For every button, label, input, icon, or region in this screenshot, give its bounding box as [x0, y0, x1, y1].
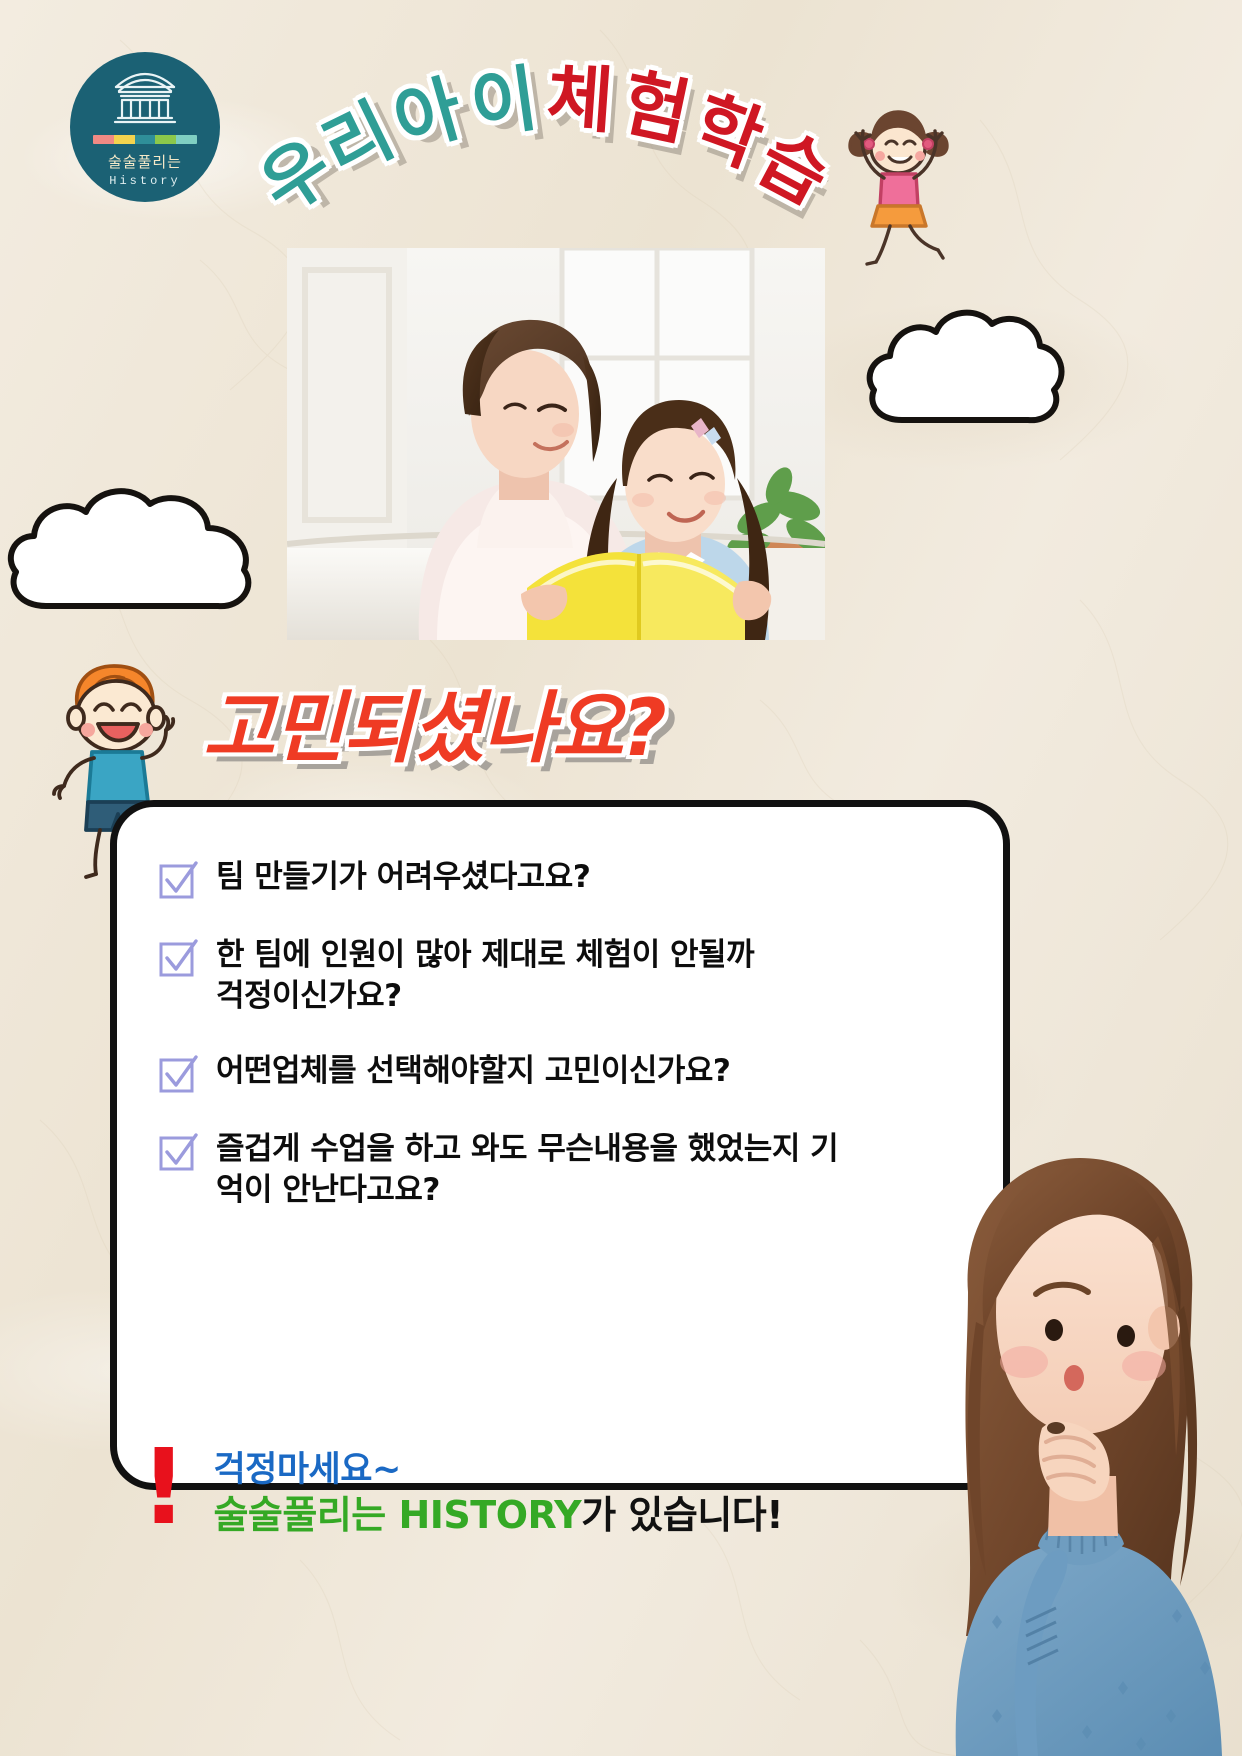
logo-color-bar	[93, 135, 197, 144]
checklist-item: 즐겁게 수업을 하고 와도 무슨내용을 했었는지 기 억이 안난다고요?	[158, 1129, 898, 1211]
slogan-line-2-tail: 가 있습니다!	[581, 1493, 783, 1537]
thinking-woman-illustration	[922, 1116, 1242, 1756]
checklist-item-label: 어떤업체를 선택해야할지 고민이신가요?	[216, 1051, 730, 1092]
title-char-4: 체	[545, 61, 616, 137]
logo-english-text: History	[109, 174, 180, 188]
page-title: 우리아이체험학습	[255, 62, 855, 242]
checkbox-checked-icon	[158, 939, 198, 979]
slogan-brand-text: 술술풀리는 HISTORY	[213, 1493, 581, 1537]
checkbox-checked-icon	[158, 861, 198, 901]
checkbox-checked-icon	[158, 1055, 198, 1095]
cheering-girl-doodle	[836, 100, 960, 270]
checkbox-checked-icon	[158, 1133, 198, 1173]
exclamation-mark-icon: !	[140, 1440, 187, 1536]
hanok-building-icon	[110, 70, 180, 131]
cloud-right	[862, 288, 1070, 448]
concerns-checklist: 팀 만들기가 어려우셨다고요?한 팀에 인원이 많아 제대로 체험이 안될까 걱…	[158, 857, 898, 1245]
slogan-line-1: 걱정마세요~	[213, 1448, 783, 1492]
title-char-3: 이	[466, 62, 542, 143]
poster-canvas: 술술풀리는 History 우리아이체험학습	[0, 0, 1242, 1756]
checklist-item-label: 팀 만들기가 어려우셨다고요?	[216, 857, 590, 898]
checklist-item-label: 한 팀에 인원이 많아 제대로 체험이 안될까 걱정이신가요?	[216, 935, 754, 1017]
title-char-2: 아	[386, 71, 470, 158]
cloud-left	[2, 470, 268, 630]
logo-korean-text: 술술풀리는	[108, 151, 182, 172]
mother-and-daughter-reading-photo	[287, 248, 825, 640]
checklist-item: 팀 만들기가 어려우셨다고요?	[158, 857, 898, 901]
checklist-item: 어떤업체를 선택해야할지 고민이신가요?	[158, 1051, 898, 1095]
reassurance-slogan: ! 걱정마세요~ 술술풀리는 HISTORY가 있습니다!	[140, 1448, 783, 1540]
section-headline: 고민되셨나요?	[203, 690, 665, 768]
title-char-5: 험	[616, 66, 696, 150]
checklist-item-label: 즐겁게 수업을 하고 와도 무슨내용을 했었는지 기 억이 안난다고요?	[216, 1129, 838, 1211]
brand-logo: 술술풀리는 History	[70, 52, 220, 202]
checklist-item: 한 팀에 인원이 많아 제대로 체험이 안될까 걱정이신가요?	[158, 935, 898, 1017]
